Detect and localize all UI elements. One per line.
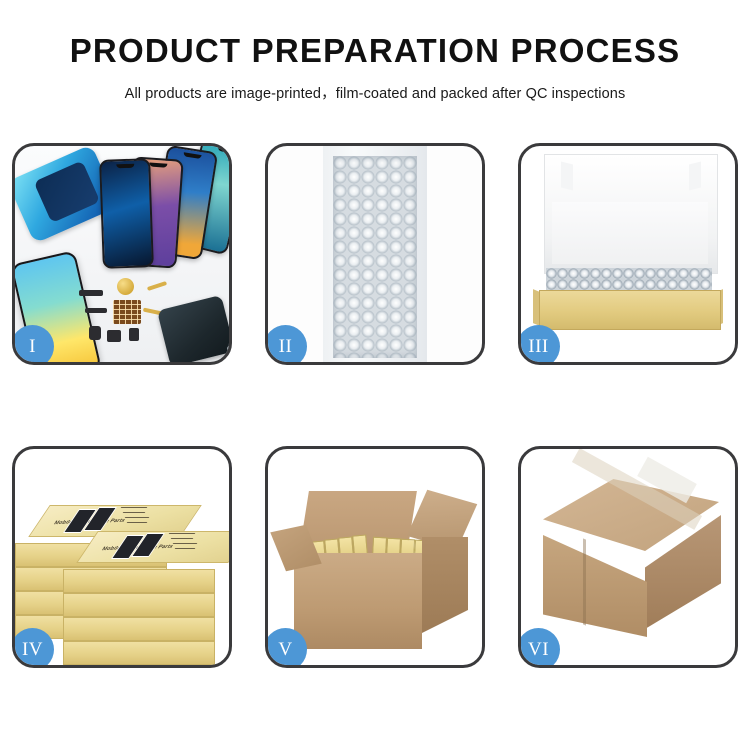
speaker-part-icon — [117, 278, 134, 295]
box-spec-line — [171, 538, 194, 539]
step-badge-3: III — [518, 325, 560, 365]
camera-part-icon — [89, 326, 101, 340]
step-panel-5: V — [265, 446, 485, 668]
step-1-illustration — [15, 146, 229, 362]
notch-icon — [217, 146, 229, 154]
page-header: PRODUCT PREPARATION PROCESS All products… — [0, 0, 750, 103]
sealed-carton-front-icon — [543, 535, 647, 637]
step-badge-5: V — [265, 628, 307, 668]
notch-icon — [116, 164, 134, 169]
carton-side-icon — [422, 537, 468, 633]
carton-body-icon — [294, 553, 422, 649]
step-5-illustration — [268, 449, 482, 665]
process-steps-grid: I II III — [12, 143, 738, 668]
bracket-part-icon — [85, 308, 107, 313]
step-panel-4: Mobile Phone Spare Parts Mobile Phone Sp… — [12, 446, 232, 668]
step-panel-1: I — [12, 143, 232, 365]
step-panel-3: III — [518, 143, 738, 365]
spare-parts-group — [77, 274, 229, 362]
step-badge-2: II — [265, 325, 307, 365]
step-badge-1: I — [12, 325, 54, 365]
step-6-illustration — [521, 449, 735, 665]
lid-flap-left-icon — [561, 162, 573, 191]
box-spec-line — [127, 522, 148, 523]
step-badge-6: VI — [518, 628, 560, 668]
vibrator-part-icon — [129, 328, 139, 341]
step-panel-2: II — [265, 143, 485, 365]
box-spec-line — [175, 548, 196, 549]
step-badge-4: IV — [12, 628, 54, 668]
stacked-box-edge — [63, 617, 215, 641]
notch-icon — [149, 162, 167, 167]
step-4-illustration: Mobile Phone Spare Parts Mobile Phone Sp… — [15, 449, 229, 665]
screw-icon — [227, 346, 229, 351]
stacked-box-edge — [63, 593, 215, 617]
bubble-wrapped-contents-icon — [546, 268, 712, 292]
flex-cable-icon — [147, 281, 167, 291]
step-panel-6: VI — [518, 446, 738, 668]
back-housing-icon — [157, 295, 229, 362]
phone-1-icon — [99, 158, 154, 269]
page-subtitle: All products are image-printed，film-coat… — [0, 82, 750, 103]
notch-icon — [183, 152, 201, 159]
chip-array-part-icon — [113, 300, 141, 324]
carton-seam-icon — [583, 538, 586, 625]
sim-tray-part-icon — [107, 330, 121, 342]
stacked-box-edge — [63, 641, 215, 665]
connector-part-icon — [79, 290, 103, 296]
kraft-box-base-icon — [539, 290, 721, 330]
page-title: PRODUCT PREPARATION PROCESS — [0, 34, 750, 69]
box-spec-line — [123, 512, 146, 513]
box-spec-line — [121, 507, 148, 508]
step-2-illustration — [268, 146, 482, 362]
stacked-box-edge — [63, 569, 215, 593]
box-spec-line — [125, 517, 150, 518]
box-inner-panel-icon — [552, 202, 708, 264]
box-spec-line — [169, 533, 196, 534]
phone-lineup-icon — [101, 150, 229, 268]
bubble-wrap-icon — [333, 156, 417, 358]
step-3-illustration — [521, 146, 735, 362]
lid-flap-right-icon — [689, 162, 701, 191]
box-spec-line — [173, 543, 198, 544]
